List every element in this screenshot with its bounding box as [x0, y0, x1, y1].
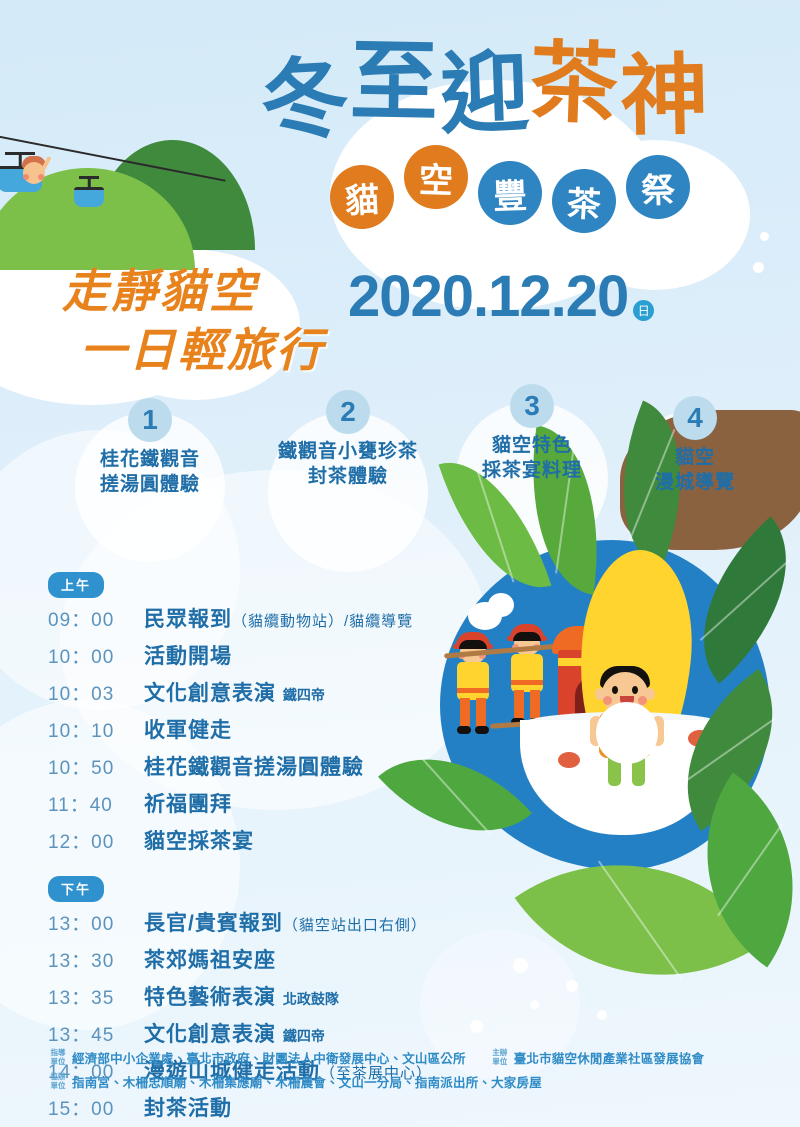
- schedule-row: 09：00 民眾報到（貓纜動物站）/貓纜導覽: [48, 603, 478, 640]
- schedule-row: 10：50 桂花鐵觀音搓湯圓體驗: [48, 751, 478, 788]
- schedule-event-main: 祈福團拜: [144, 793, 232, 816]
- period-tag-morning: 上午: [48, 572, 104, 598]
- tangyuan-ball: [558, 752, 580, 768]
- schedule-event-main: 封茶活動: [144, 1097, 232, 1120]
- subtitle-circle-2: 空: [403, 144, 469, 210]
- boy-eye: [612, 686, 618, 694]
- title-char-5: 神: [619, 51, 711, 141]
- schedule-event: 茶郊媽祖安座: [144, 944, 276, 974]
- schedule-row: 10：10 收軍健走: [48, 714, 478, 751]
- schedule-time: 10：50: [48, 753, 144, 780]
- dot-accent: [597, 1010, 607, 1020]
- schedule-row: 10：03 文化創意表演 鐵四帝: [48, 677, 478, 714]
- schedule-event: 祈福團拜: [144, 788, 232, 818]
- activity-number: 1: [128, 398, 172, 442]
- schedule-row: 11：40 祈福團拜: [48, 788, 478, 825]
- schedule-row: 15：00 封茶活動: [48, 1092, 478, 1127]
- poster-canvas: 冬至迎茶神 貓 空 豐 茶 祭 走靜貓空 一日輕旅行 2020.12.20 日 …: [0, 0, 800, 1127]
- gondola-cabin: [74, 187, 104, 207]
- schedule-event-main: 文化創意表演: [144, 1023, 276, 1046]
- footer-tag-coorganizer: 協辦單位: [48, 1073, 68, 1090]
- schedule-event-note: 鐵四帝: [283, 687, 325, 703]
- footer-text-guidance: 經濟部中小企業處、臺北市政府、財團法人中衛發展中心、文山區公所: [72, 1048, 466, 1067]
- schedule-event: 長官/貴賓報到（貓空站出口右側）: [144, 907, 427, 937]
- schedule-time: 13：30: [48, 946, 144, 973]
- title-block: 冬至迎茶神 貓 空 豐 茶 祭: [260, 42, 800, 222]
- cloud-puff: [488, 593, 514, 617]
- period-tag-afternoon: 下午: [48, 876, 104, 902]
- schedule-event-main: 長官/貴賓報到: [144, 912, 283, 935]
- gondola-car: [74, 176, 104, 210]
- tea-festival-illustration: [430, 430, 800, 990]
- schedule-block: 上午 09：00 民眾報到（貓纜動物站）/貓纜導覽 10：00 活動開場 10：…: [48, 572, 478, 1127]
- schedule-row: 10：00 活動開場: [48, 640, 478, 677]
- footer-row-coorganizer: 協辦單位 指南宮、木柵忠順廟、木柵集應廟、木柵農會、文山一分局、指南派出所、大家…: [48, 1072, 768, 1091]
- schedule-event: 活動開場: [144, 640, 232, 670]
- activity-item[interactable]: 3 貓空特色 採茶宴料理: [452, 384, 612, 483]
- activity-number: 4: [673, 396, 717, 440]
- big-tangyuan: [596, 702, 658, 764]
- leaf-vein: [598, 860, 682, 979]
- bearer-leg: [530, 690, 540, 720]
- leaf-vein: [476, 468, 515, 583]
- footer-tag-guidance: 指導單位: [48, 1049, 68, 1066]
- activity-item[interactable]: 2 鐵觀音小甕珍茶 封茶體驗: [248, 390, 448, 489]
- subtitle-circle-3: 豐: [477, 160, 543, 226]
- schedule-event-main: 貓空採茶宴: [144, 830, 254, 853]
- activity-label: 鐵觀音小甕珍茶 封茶體驗: [248, 440, 448, 489]
- schedule-time: 13：35: [48, 983, 144, 1010]
- schedule-event-paren: （貓空站出口右側）: [283, 917, 427, 934]
- event-date-block: 2020.12.20 日: [348, 268, 654, 326]
- schedule-event: 文化創意表演 鐵四帝: [144, 1018, 325, 1048]
- activity-label: 桂花鐵觀音 搓湯圓體驗: [70, 448, 230, 497]
- subtitle-circles: 貓 空 豐 茶 祭: [330, 147, 690, 211]
- dot-accent: [530, 1000, 539, 1009]
- footer-tag-host: 主辦單位: [490, 1049, 510, 1066]
- title-char-2: 至: [349, 37, 441, 127]
- weekday-badge: 日: [633, 300, 654, 321]
- schedule-event-main: 文化創意表演: [144, 682, 276, 705]
- schedule-event: 特色藝術表演 北政鼓隊: [144, 981, 339, 1011]
- schedule-event-main: 特色藝術表演: [144, 986, 276, 1009]
- event-date: 2020.12.20: [348, 268, 628, 326]
- schedule-row: 13：00 長官/貴賓報到（貓空站出口右側）: [48, 907, 478, 944]
- footer-credits: 指導單位 經濟部中小企業處、臺北市政府、財團法人中衛發展中心、文山區公所 主辦單…: [48, 1048, 768, 1096]
- schedule-event-main: 桂花鐵觀音搓湯圓體驗: [144, 756, 364, 779]
- activity-number: 3: [510, 384, 554, 428]
- subtitle-circle-1: 貓: [328, 163, 395, 230]
- gondola-arm: [88, 176, 91, 187]
- footer-text-coorganizer: 指南宮、木柵忠順廟、木柵集應廟、木柵農會、文山一分局、指南派出所、大家房屋: [72, 1072, 542, 1091]
- title-char-4: 茶: [529, 38, 622, 129]
- boy-eye: [632, 686, 638, 694]
- schedule-time: 12：00: [48, 827, 144, 854]
- child-cheek: [23, 174, 29, 180]
- palanquin-bearer: [514, 620, 550, 730]
- schedule-event: 收軍健走: [144, 714, 232, 744]
- schedule-event-main: 收軍健走: [144, 719, 232, 742]
- schedule-time: 15：00: [48, 1094, 144, 1121]
- dot-accent: [753, 262, 764, 273]
- schedule-row: 13：30 茶郊媽祖安座: [48, 944, 478, 981]
- bearer-leg: [514, 690, 524, 720]
- footer-row-guidance: 指導單位 經濟部中小企業處、臺北市政府、財團法人中衛發展中心、文山區公所 主辦單…: [48, 1048, 768, 1067]
- schedule-event: 民眾報到（貓纜動物站）/貓纜導覽: [144, 603, 413, 633]
- leaf-vein: [717, 824, 783, 917]
- title-char-1: 冬: [258, 54, 352, 147]
- bearer-belt: [511, 680, 543, 685]
- schedule-event: 文化創意表演 鐵四帝: [144, 677, 325, 707]
- leaf-vein: [700, 559, 791, 641]
- schedule-event: 貓空採茶宴: [144, 825, 254, 855]
- footer-text-host: 臺北市貓空休閒產業社區發展協會: [514, 1048, 705, 1067]
- schedule-time: 13：00: [48, 909, 144, 936]
- schedule-event-main: 民眾報到: [144, 608, 232, 631]
- schedule-row: 13：35 特色藝術表演 北政鼓隊: [48, 981, 478, 1018]
- activity-label: 貓空 漫城導覽: [620, 446, 770, 495]
- gondola-arm: [19, 152, 22, 166]
- boy-cheek: [603, 696, 612, 705]
- schedule-row: 12：00 貓空採茶宴: [48, 825, 478, 862]
- schedule-event-note: 鐵四帝: [283, 1028, 325, 1044]
- slogan-block: 走靜貓空 一日輕旅行: [62, 262, 325, 380]
- schedule-event-note: 北政鼓隊: [283, 991, 339, 1007]
- schedule-time: 10：10: [48, 716, 144, 743]
- schedule-event-main: 茶郊媽祖安座: [144, 949, 276, 972]
- dot-accent: [726, 246, 733, 253]
- activity-number: 2: [326, 390, 370, 434]
- activity-label: 貓空特色 採茶宴料理: [452, 434, 612, 483]
- slogan-line-1: 走靜貓空: [62, 262, 325, 321]
- schedule-event: 封茶活動: [144, 1092, 232, 1122]
- slogan-line-2: 一日輕旅行: [62, 321, 325, 380]
- schedule-event: 桂花鐵觀音搓湯圓體驗: [144, 751, 364, 781]
- subtitle-circle-5: 祭: [625, 154, 691, 220]
- schedule-time: 13：45: [48, 1020, 144, 1047]
- main-title: 冬至迎茶神: [260, 42, 800, 130]
- schedule-time: 09：00: [48, 605, 144, 632]
- activity-item[interactable]: 1 桂花鐵觀音 搓湯圓體驗: [70, 398, 230, 497]
- section-gap: [48, 862, 478, 876]
- bearer-hair: [513, 632, 541, 641]
- schedule-event-paren: （貓纜動物站）/貓纜導覽: [232, 613, 413, 630]
- title-char-3: 迎: [439, 48, 532, 139]
- dot-accent: [760, 232, 769, 241]
- activity-bubble: [268, 412, 428, 572]
- schedule-event-main: 活動開場: [144, 645, 232, 668]
- bearer-body: [511, 654, 543, 692]
- schedule-time: 11：40: [48, 790, 144, 817]
- schedule-time: 10：00: [48, 642, 144, 669]
- schedule-time: 10：03: [48, 679, 144, 706]
- gondola-illustration: [0, 120, 250, 270]
- child-cheek: [38, 174, 44, 180]
